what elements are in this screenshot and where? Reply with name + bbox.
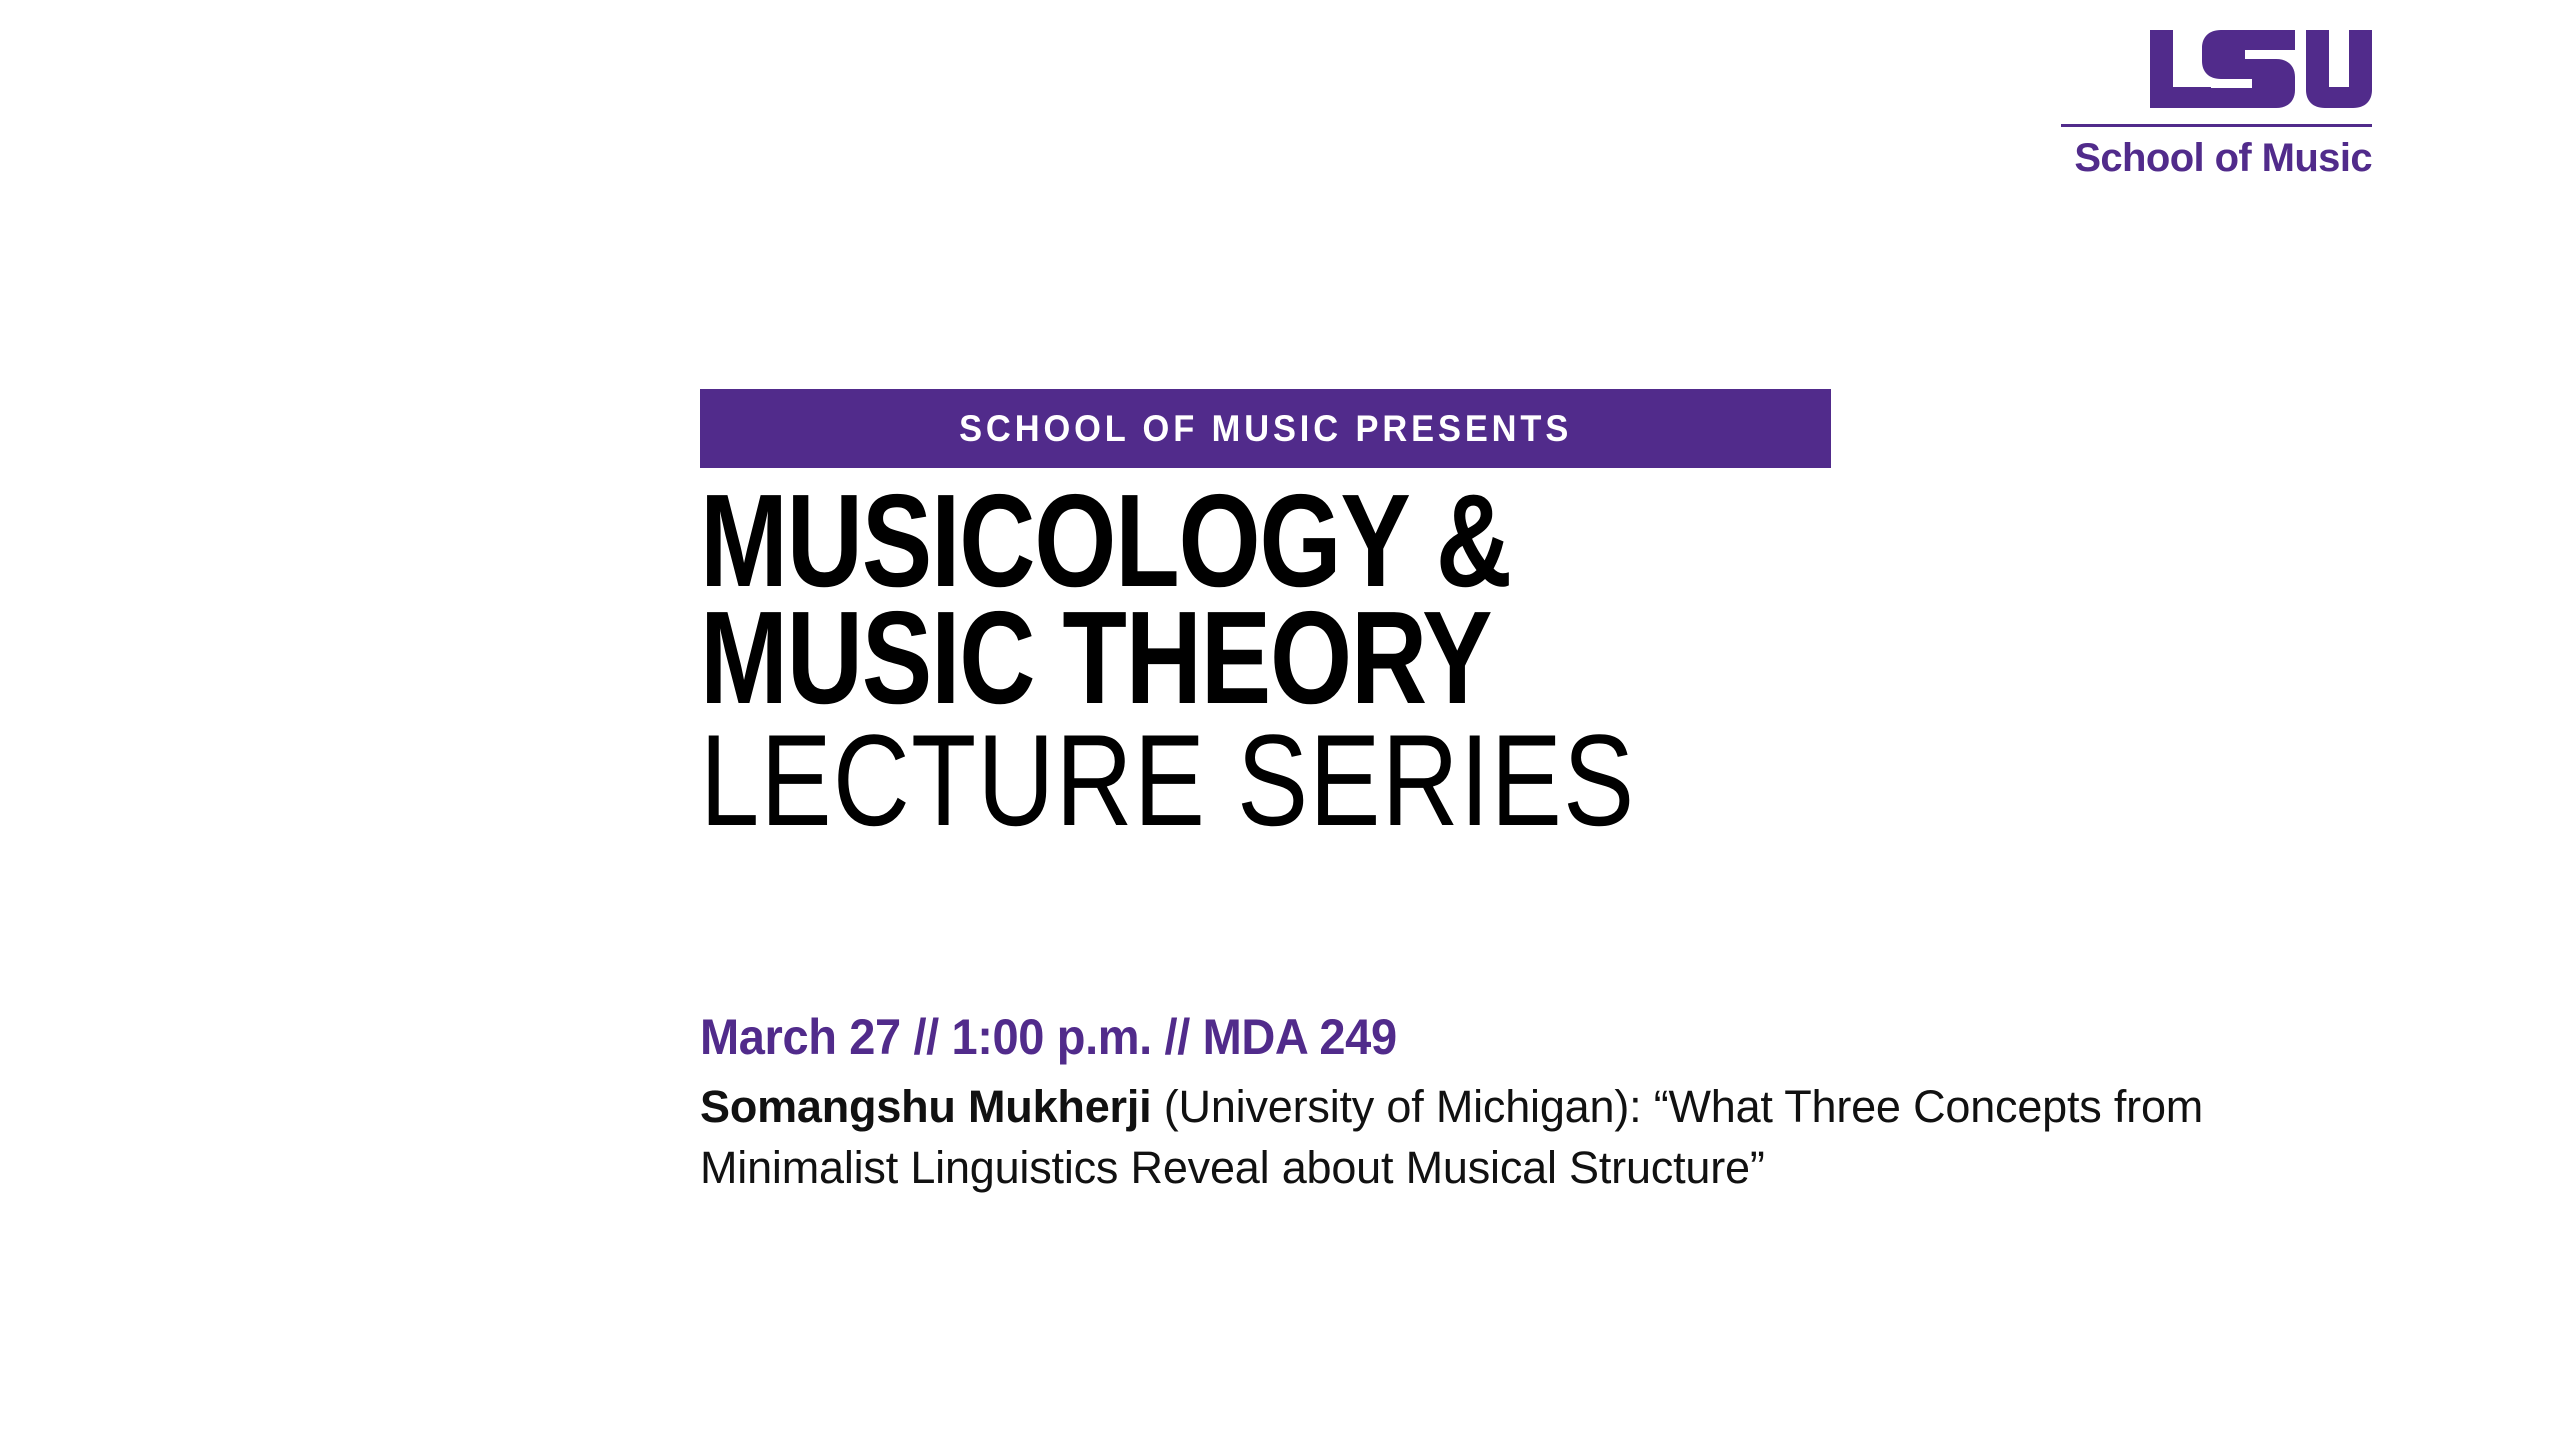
school-of-music-label: School of Music [2052,136,2372,180]
headline-line-2: MUSIC THEORY [700,593,1980,722]
poster-headline: MUSICOLOGY & MUSIC THEORY LECTURE SERIES [700,476,2300,844]
poster-content: SCHOOL OF MUSIC PRESENTS MUSICOLOGY & MU… [700,389,2300,1244]
event-description: Somangshu Mukherji (University of Michig… [700,1077,2260,1199]
headline-line-3: LECTURE SERIES [700,717,2012,844]
lsu-wordmark-icon [2150,30,2372,108]
speaker-name: Somangshu Mukherji [700,1081,1151,1132]
event-datetime-location: March 27 // 1:00 p.m. // MDA 249 [700,1010,2204,1065]
lsu-logo-block: School of Music [2052,30,2372,180]
presents-banner: SCHOOL OF MUSIC PRESENTS [700,389,1831,468]
event-details: March 27 // 1:00 p.m. // MDA 249 Somangs… [700,1010,2300,1199]
presents-label: SCHOOL OF MUSIC PRESENTS [959,410,1572,447]
logo-divider-rule [2061,124,2372,127]
